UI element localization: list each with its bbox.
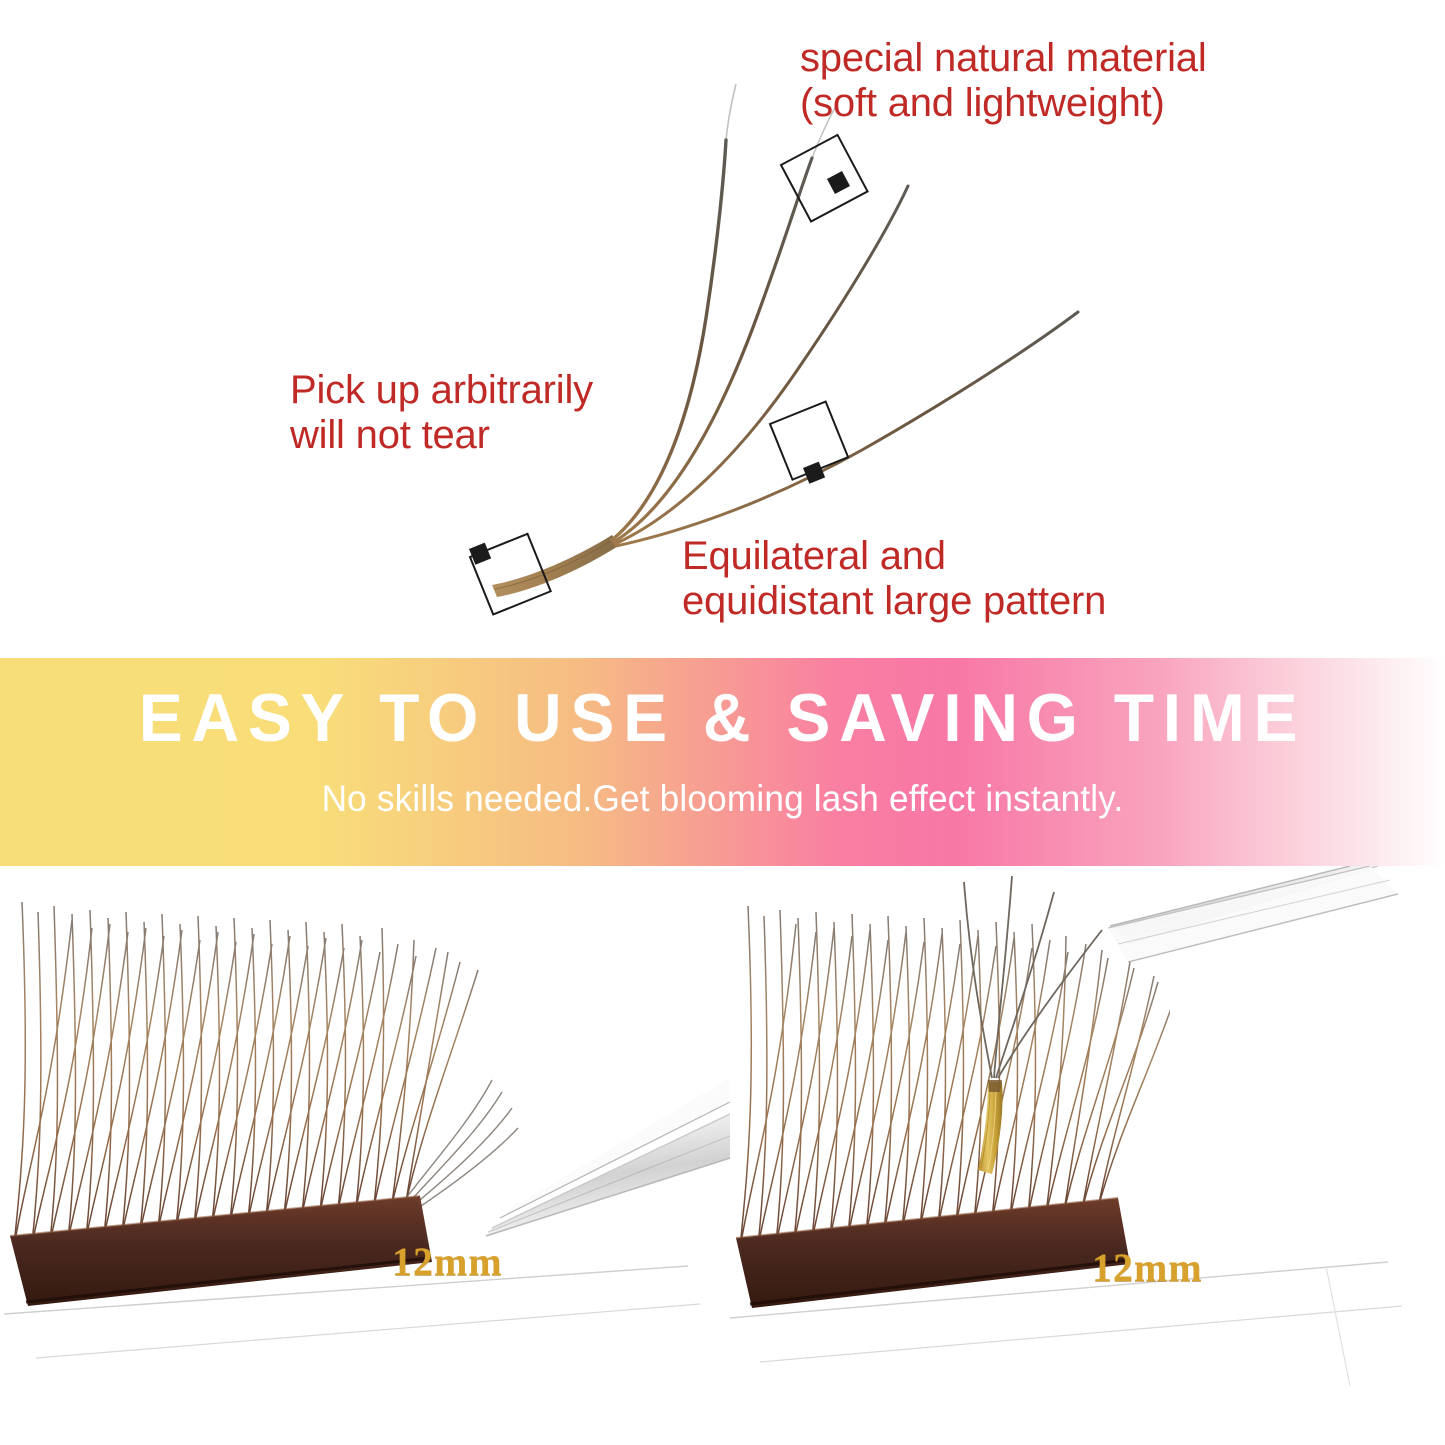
fan-fibers (612, 140, 1078, 546)
size-label-right: 12mm (1092, 1244, 1203, 1291)
product-photo-row: 12mm (0, 866, 1445, 1445)
banner-subtitle: No skills needed.Get blooming lash effec… (36, 780, 1409, 817)
photo-lash-tray-with-picked-fan: 12mm (730, 866, 1445, 1445)
product-infographic: special natural material (soft and light… (0, 0, 1445, 1445)
banner-headline: EASY TO USE & SAVING TIME (22, 684, 1424, 752)
size-label-left: 12mm (392, 1238, 503, 1285)
promo-banner: EASY TO USE & SAVING TIME No skills need… (0, 658, 1445, 866)
callout-marker-pattern (770, 402, 848, 484)
lash-fibers (740, 906, 1176, 1248)
lash-picked-strands (400, 1080, 518, 1212)
fan-base (492, 535, 620, 597)
photo-lash-tray-with-tweezers: 12mm (0, 866, 730, 1445)
callout-pick-up: Pick up arbitrarily will not tear (290, 368, 593, 458)
picked-lash-fan (964, 876, 1102, 1174)
tweezers (1108, 866, 1398, 962)
callout-equilateral: Equilateral and equidistant large patter… (682, 534, 1106, 624)
callout-special-material: special natural material (soft and light… (800, 36, 1207, 126)
tweezers (486, 1078, 730, 1236)
top-feature-panel: special natural material (soft and light… (0, 0, 1445, 658)
